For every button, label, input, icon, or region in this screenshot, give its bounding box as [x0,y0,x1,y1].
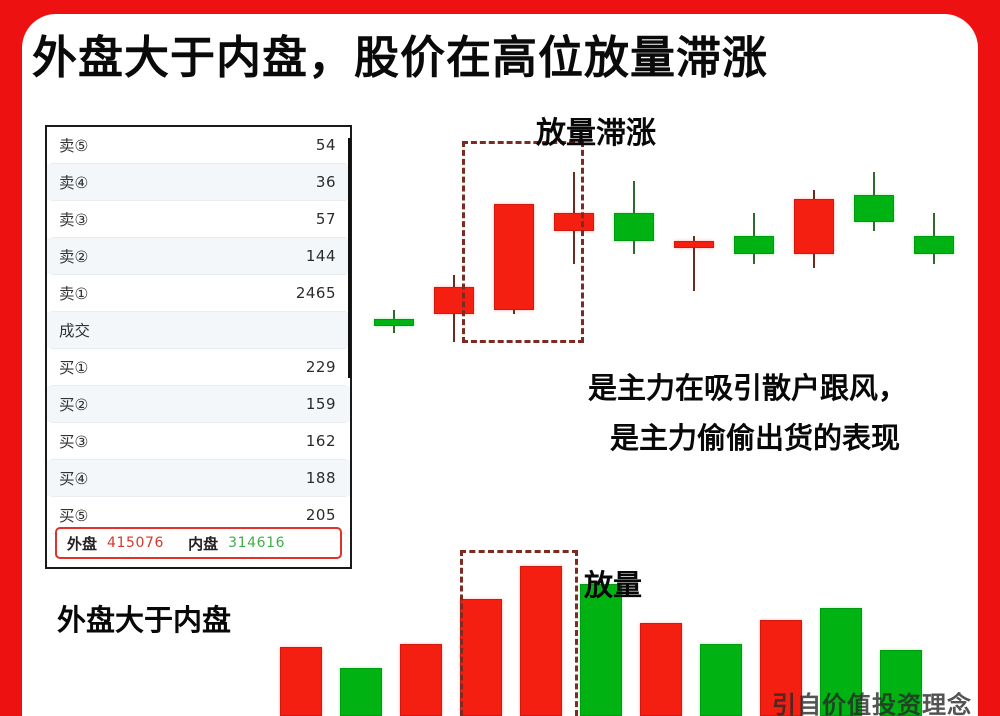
order-book-row-label: 卖③ [59,208,88,230]
candlestick [374,14,414,374]
order-book-row: 卖③57 [47,201,350,237]
order-book-row: 买①229 [47,349,350,385]
outer-volume-value: 415076 [107,535,164,551]
candle-body [374,319,414,326]
order-book-row: 买③162 [47,423,350,459]
order-book-row-label: 买④ [59,467,88,489]
order-book-row-value: 229 [306,358,336,376]
annotation-outer-gt-inner: 外盘大于内盘 [57,597,231,639]
order-book-row-label: 买① [59,356,88,378]
annotation-line-2: 是主力偷偷出货的表现 [610,415,900,457]
candlestick [854,14,894,374]
annotation-volume-stall: 放量滞涨 [536,108,656,152]
order-book-row: 卖④36 [47,164,350,200]
candle-body [614,213,654,241]
order-book-rows: 卖⑤54卖④36卖③57卖②144卖①2465成交买①229买②159买③162… [47,127,350,534]
order-book-row-value: 144 [306,247,336,265]
order-book-row-label: 买⑤ [59,504,88,526]
order-book-row-value: 159 [306,395,336,413]
order-book-row: 卖①2465 [47,275,350,311]
order-book-row-value: 57 [316,210,336,228]
watermark-text: 引自价值投资理念 [772,685,972,716]
candle-body [794,199,834,254]
order-book-row: 卖②144 [47,238,350,274]
candle-body [854,195,894,223]
inner-volume-value: 314616 [228,535,285,551]
order-book-row-value: 188 [306,469,336,487]
order-book-row-label: 成交 [59,319,90,341]
order-book-row-value: 205 [306,506,336,524]
order-book-row: 卖⑤54 [47,127,350,163]
order-book-row-value: 162 [306,432,336,450]
volume-bar [340,668,382,716]
candlestick [674,14,714,374]
order-book-row-label: 卖⑤ [59,134,88,156]
candlestick [734,14,774,374]
volume-bar [700,644,742,716]
order-book-row: 买④188 [47,460,350,496]
order-book-row-label: 买② [59,393,88,415]
volume-bar [400,644,442,716]
red-border-frame: 外盘大于内盘，股价在高位放量滞涨 卖⑤54卖④36卖③57卖②144卖①2465… [0,0,1000,716]
annotation-volume-up: 放量 [584,562,642,604]
order-book-row-value: 36 [316,173,336,191]
chart-y-axis-line [348,138,351,378]
candle-body [674,241,714,248]
candlestick [914,14,954,374]
order-book-row-label: 卖④ [59,171,88,193]
volume-bar [640,623,682,716]
candle-body [734,236,774,254]
order-book-row-label: 卖② [59,245,88,267]
candle-highlight-box [462,141,584,343]
candlestick [614,14,654,374]
order-book-row: 成交 [47,312,350,348]
annotation-line-1: 是主力在吸引散户跟风， [588,365,907,407]
volume-bar [280,647,322,716]
volume-highlight-box [460,550,578,716]
candlestick [794,14,834,374]
order-book-row-value: 2465 [296,284,336,302]
order-book-row-label: 买③ [59,430,88,452]
candle-body [914,236,954,254]
order-book-row-label: 卖① [59,282,88,304]
order-book-panel: 卖⑤54卖④36卖③57卖②144卖①2465成交买①229买②159买③162… [45,125,352,569]
content-canvas: 外盘大于内盘，股价在高位放量滞涨 卖⑤54卖④36卖③57卖②144卖①2465… [22,14,978,716]
order-book-row-value: 54 [316,136,336,154]
order-book-row: 买②159 [47,386,350,422]
